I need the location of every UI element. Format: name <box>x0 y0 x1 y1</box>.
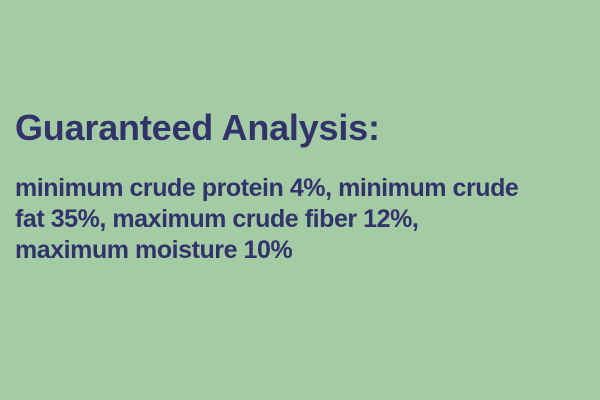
analysis-line: fat 35%, maximum crude fiber 12%, <box>15 204 598 235</box>
analysis-line: minimum crude protein 4%, minimum crude <box>15 173 598 204</box>
guaranteed-analysis-panel: Guaranteed Analysis: minimum crude prote… <box>0 0 600 400</box>
content-block: Guaranteed Analysis: minimum crude prote… <box>15 108 598 266</box>
analysis-line: maximum moisture 10% <box>15 235 598 266</box>
page-title: Guaranteed Analysis: <box>15 108 598 148</box>
analysis-text-block: minimum crude protein 4%, minimum crude … <box>15 148 598 266</box>
